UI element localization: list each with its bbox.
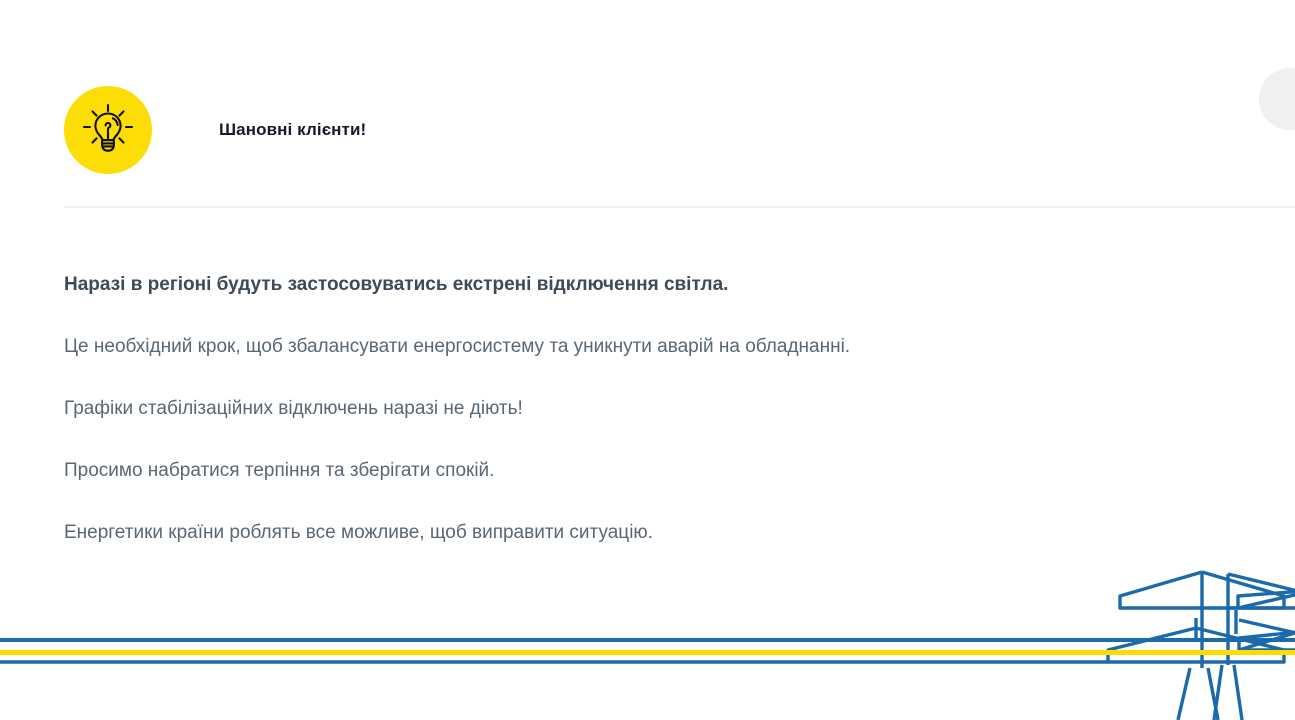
notice-body: Наразі в регіоні будуть застосовуватись …: [64, 272, 1204, 546]
footer-decoration: [0, 550, 1295, 720]
page-title: Шановні клієнти!: [219, 120, 366, 140]
header-divider: [64, 206, 1295, 208]
notice-paragraph-lead: Наразі в регіоні будуть застосовуватись …: [64, 272, 1204, 298]
notice-paragraph: Просимо набратися терпіння та зберігати …: [64, 458, 1204, 484]
blue-rule: [0, 638, 1295, 642]
notice-page: Шановні клієнти! Наразі в регіоні будуть…: [0, 0, 1295, 720]
yellow-rule: [0, 650, 1295, 655]
notice-paragraph: Це необхідний крок, щоб збалансувати ене…: [64, 334, 1204, 360]
power-transmission-tower-art: [0, 572, 1295, 720]
notice-paragraph: Графіки стабілізаційних відключень нараз…: [64, 396, 1204, 422]
edge-circle-decoration: [1259, 68, 1295, 130]
lightbulb-icon: [64, 86, 152, 174]
notice-paragraph: Енергетики країни роблять все можливе, щ…: [64, 520, 1204, 546]
notice-header: Шановні клієнти!: [64, 78, 366, 182]
